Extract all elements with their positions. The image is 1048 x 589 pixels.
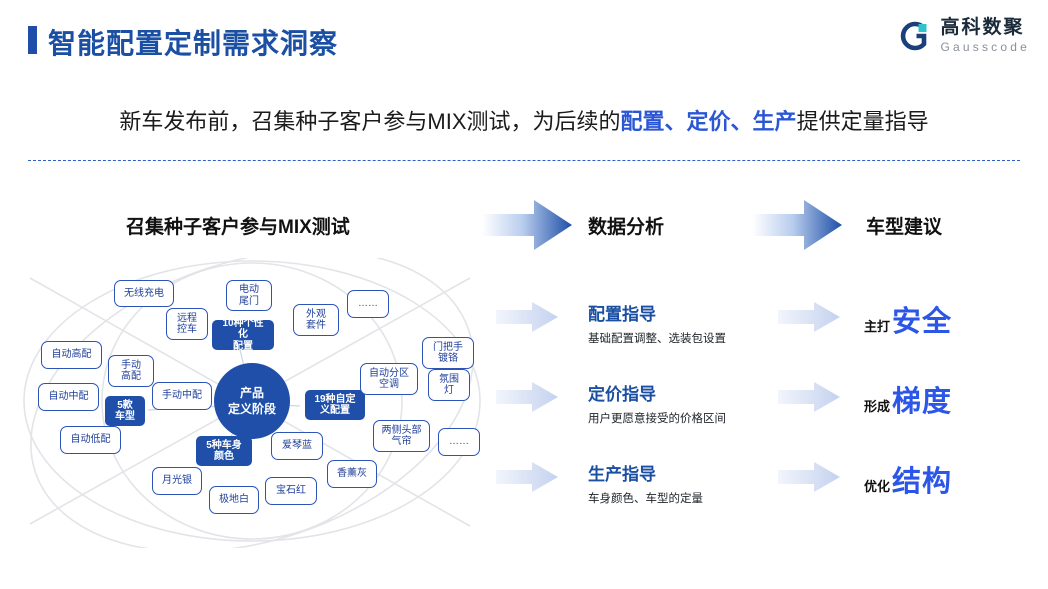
mindmap-leaf[interactable]: 氛围 灯: [428, 369, 470, 401]
flow-arrow-2-icon: [752, 200, 842, 250]
mindmap-leaf[interactable]: 门把手 镀铬: [422, 337, 474, 369]
mindmap-leaf[interactable]: 自动中配: [38, 383, 99, 411]
outcome-keyword: 安全: [892, 298, 952, 340]
analysis-item-config[interactable]: 配置指导 基础配置调整、选装包设置: [588, 300, 726, 346]
mindmap-leaf[interactable]: 爱琴蓝: [271, 432, 323, 460]
mindmap-leaf[interactable]: 远程 控车: [166, 308, 208, 340]
mindmap-leaf[interactable]: 香薰灰: [327, 460, 377, 488]
analysis-item-production[interactable]: 生产指导 车身颜色、车型的定量: [588, 460, 703, 506]
subtitle-part-1: 新车发布前，召集种子客户参与MIX测试，为后续的: [119, 109, 620, 134]
mindmap-pillar[interactable]: 10种个性化 配置: [212, 320, 274, 350]
column-heading-middle: 数据分析: [588, 212, 664, 239]
mindmap-leaf[interactable]: ……: [347, 290, 389, 318]
mindmap-pillar[interactable]: 5款 车型: [105, 396, 145, 426]
outcome-keyword: 梯度: [892, 378, 952, 420]
analysis-title: 配置指导: [588, 300, 726, 325]
mindmap-leaf[interactable]: 自动分区 空调: [360, 363, 418, 395]
mindmap-pillar[interactable]: 5种车身 颜色: [196, 436, 252, 466]
mindmap-leaf[interactable]: 宝石红: [265, 477, 317, 505]
outcome-item-structure[interactable]: 优化 结构: [864, 458, 952, 500]
row-arrow-pricing-icon: [496, 382, 558, 412]
outcome-keyword: 结构: [892, 458, 952, 500]
outcome-arrow-1-icon: [778, 302, 840, 332]
outcome-prefix: 优化: [864, 476, 890, 495]
column-heading-left: 召集种子客户参与MIX测试: [126, 212, 350, 239]
analysis-desc: 基础配置调整、选装包设置: [588, 330, 726, 346]
outcome-prefix: 主打: [864, 316, 890, 335]
mindmap-leaf[interactable]: 自动高配: [41, 341, 102, 369]
slide-root: 智能配置定制需求洞察 高科数聚 Gausscode 新车发布前，召集种子客户参与…: [0, 0, 1048, 589]
analysis-title: 生产指导: [588, 460, 703, 485]
mindmap-leaf[interactable]: 自动低配: [60, 426, 121, 454]
mindmap-leaf[interactable]: 无线充电: [114, 280, 174, 307]
row-arrow-config-icon: [496, 302, 558, 332]
mindmap-pillar[interactable]: 19种自定 义配置: [305, 390, 365, 420]
mindmap-leaf[interactable]: ……: [438, 428, 480, 456]
mindmap-leaf[interactable]: 手动 高配: [108, 355, 154, 387]
mindmap-leaf[interactable]: 月光银: [152, 467, 202, 495]
mindmap-leaf[interactable]: 电动 尾门: [226, 280, 272, 311]
mindmap-leaf[interactable]: 外观 套件: [293, 304, 339, 336]
analysis-desc: 车身颜色、车型的定量: [588, 490, 703, 506]
analysis-desc: 用户更愿意接受的价格区间: [588, 410, 726, 426]
gausscode-logo-icon: [898, 19, 932, 53]
row-arrow-production-icon: [496, 462, 558, 492]
subtitle-highlight: 配置、定价、生产: [621, 109, 797, 134]
logo-text-cn: 高科数聚: [940, 18, 1030, 37]
page-title: 智能配置定制需求洞察: [48, 22, 338, 62]
outcome-item-safety[interactable]: 主打 安全: [864, 298, 952, 340]
section-divider: [28, 160, 1020, 161]
column-heading-right: 车型建议: [866, 212, 942, 239]
flow-arrow-1-icon: [482, 200, 572, 250]
mindmap-hub: 产品 定义阶段: [214, 363, 290, 439]
logo-text-en: Gausscode: [940, 41, 1030, 53]
analysis-title: 定价指导: [588, 380, 726, 405]
outcome-arrow-2-icon: [778, 382, 840, 412]
outcome-arrow-3-icon: [778, 462, 840, 492]
analysis-item-pricing[interactable]: 定价指导 用户更愿意接受的价格区间: [588, 380, 726, 426]
outcome-prefix: 形成: [864, 396, 890, 415]
slide-header: 智能配置定制需求洞察 高科数聚 Gausscode: [0, 0, 1048, 78]
outcome-item-tier[interactable]: 形成 梯度: [864, 378, 952, 420]
title-accent-bar: [28, 26, 37, 54]
mindmap-leaf[interactable]: 极地白: [209, 486, 259, 514]
mindmap-leaf[interactable]: 手动中配: [152, 382, 212, 410]
brand-logo: 高科数聚 Gausscode: [898, 18, 1030, 53]
slide-subtitle: 新车发布前，召集种子客户参与MIX测试，为后续的配置、定价、生产提供定量指导: [0, 104, 1048, 136]
subtitle-part-2: 提供定量指导: [797, 109, 929, 134]
mindmap-diagram: 产品 定义阶段 10种个性化 配置 19种自定 义配置 5款 车型 5种车身 颜…: [0, 258, 500, 548]
mindmap-leaf[interactable]: 两侧头部 气帘: [373, 420, 430, 452]
